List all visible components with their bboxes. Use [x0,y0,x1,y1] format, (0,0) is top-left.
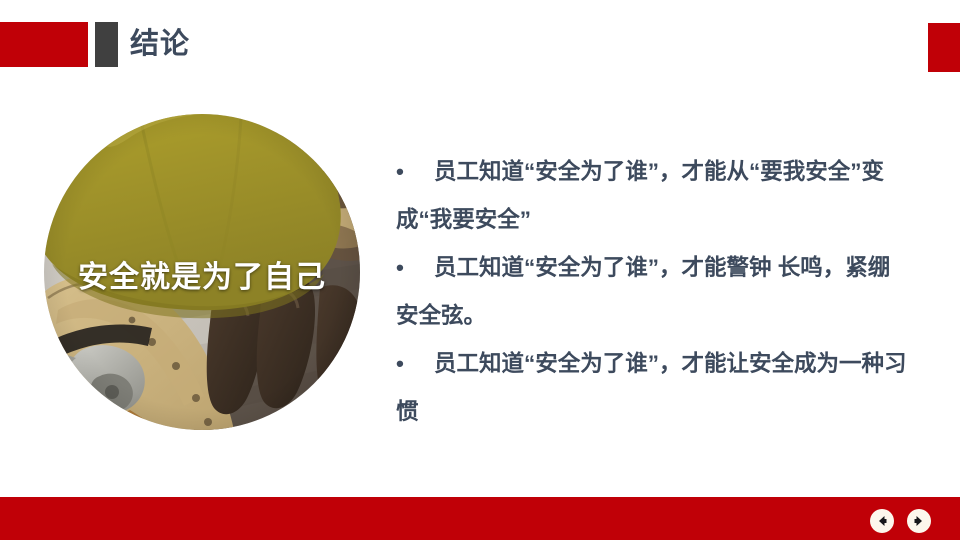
slide-canvas: 结论 [0,0,960,540]
bullet-item-1: • 员工知道“安全为了谁”，才能从“要我安全”变成“我要安全” [396,148,912,244]
arrow-left-icon [875,514,889,528]
bullet-list: • 员工知道“安全为了谁”，才能从“要我安全”变成“我要安全” • 员工知道“安… [396,148,912,436]
photo-caption: 安全就是为了自己 [44,252,360,296]
bullet-text: 员工知道“安全为了谁”，才能警钟 长鸣，紧绷安全弦。 [396,244,912,340]
bullet-text: 员工知道“安全为了谁”，才能从“要我安全”变成“我要安全” [396,148,912,244]
header-red-accent-block [0,22,88,67]
previous-slide-button[interactable] [870,509,894,533]
bullet-item-2: • 员工知道“安全为了谁”，才能警钟 长鸣，紧绷安全弦。 [396,244,912,340]
bullet-marker: • [396,148,410,196]
footer-bar [0,497,960,540]
bullet-text: 员工知道“安全为了谁”，才能让安全成为一种习惯 [396,340,912,436]
next-slide-button[interactable] [907,509,931,533]
page-title: 结论 [130,22,190,67]
bullet-item-3: • 员工知道“安全为了谁”，才能让安全成为一种习惯 [396,340,912,436]
header-gray-accent-block [95,22,118,67]
bullet-marker: • [396,244,410,292]
arrow-right-icon [912,514,926,528]
bullet-marker: • [396,340,410,388]
header-right-red-accent-block [928,23,960,72]
